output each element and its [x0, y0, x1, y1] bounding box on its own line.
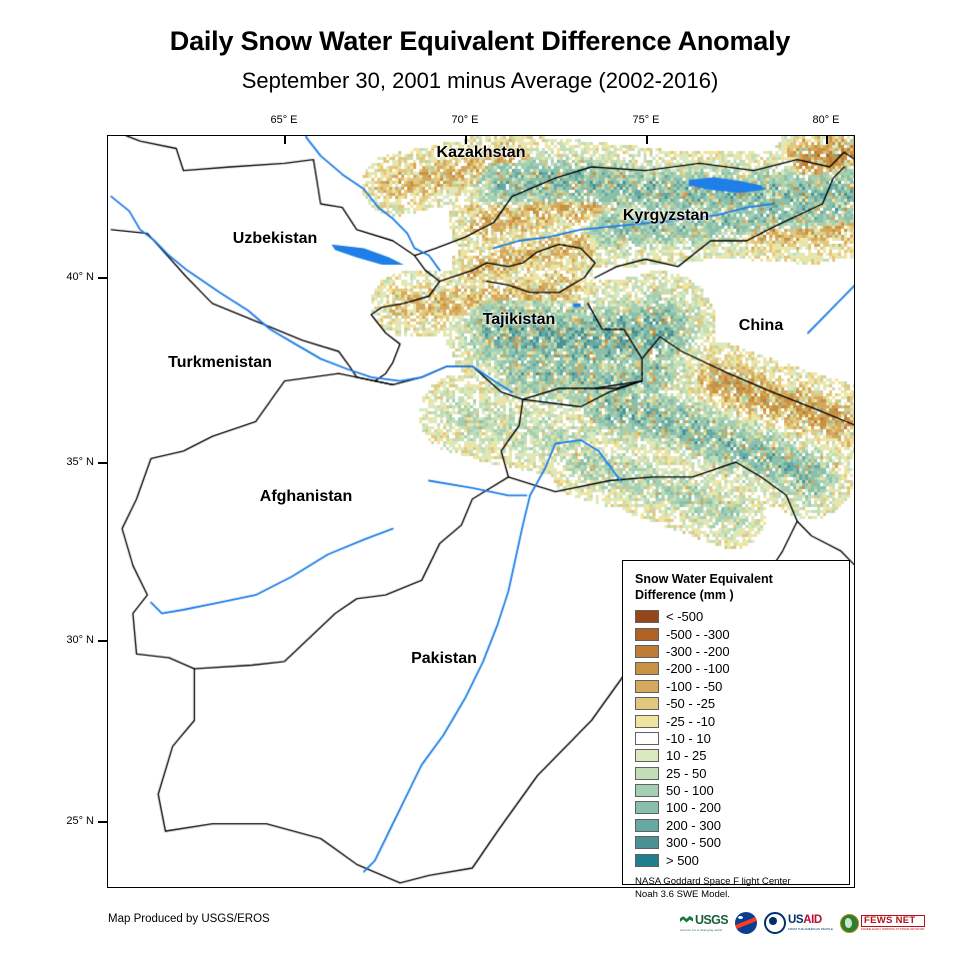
legend-row: -500 - -300: [635, 625, 841, 642]
legend-row: -100 - -50: [635, 678, 841, 695]
fews-tagline: FAMINE EARLY WARNING SYSTEMS NETWORK: [861, 928, 925, 931]
legend-label: -200 - -100: [666, 662, 730, 675]
legend-label: 10 - 25: [666, 749, 706, 762]
legend-row: -300 - -200: [635, 643, 841, 660]
legend-swatch: [635, 854, 659, 867]
legend-swatch: [635, 645, 659, 658]
legend-swatch: [635, 732, 659, 745]
lat-tick-label: 30° N: [50, 634, 94, 646]
lat-tick-label: 25° N: [50, 815, 94, 827]
usaid-logo: USAID FROM THE AMERICAN PEOPLE: [764, 912, 833, 934]
legend-title-line2: Difference (mm ): [635, 587, 841, 603]
lat-tick-mark: [98, 821, 107, 823]
legend-swatch: [635, 784, 659, 797]
legend-source-note: NASA Goddard Space F light Center Noah 3…: [635, 875, 841, 901]
usaid-wordmark-aid: AID: [803, 914, 822, 926]
lon-tick-label: 65° E: [270, 114, 297, 126]
legend-note-line1: NASA Goddard Space F light Center: [635, 875, 841, 888]
legend-label: -50 - -25: [666, 697, 715, 710]
legend-row: 100 - 200: [635, 799, 841, 816]
legend-title: Snow Water Equivalent Difference (mm ): [635, 571, 841, 603]
lon-tick-label: 80° E: [812, 114, 839, 126]
lon-tick-label: 70° E: [451, 114, 478, 126]
legend-row: 10 - 25: [635, 747, 841, 764]
fews-wordmark: FEWS NET: [861, 915, 925, 927]
legend-row: -200 - -100: [635, 660, 841, 677]
lat-tick-mark: [98, 277, 107, 279]
page-subtitle: September 30, 2001 minus Average (2002-2…: [0, 68, 960, 94]
fews-net-logo: FEWS NET FAMINE EARLY WARNING SYSTEMS NE…: [840, 912, 925, 934]
legend-label: < -500: [666, 610, 703, 623]
usgs-tagline: science for a changing world: [680, 928, 722, 932]
legend-row: -10 - 10: [635, 730, 841, 747]
legend-label: 300 - 500: [666, 836, 721, 849]
legend-label: -10 - 10: [666, 732, 711, 745]
legend-swatch: [635, 628, 659, 641]
map-credit: Map Produced by USGS/EROS: [108, 913, 270, 925]
legend-label: 50 - 100: [666, 784, 714, 797]
lon-tick-label: 75° E: [632, 114, 659, 126]
legend-swatch: [635, 680, 659, 693]
usaid-wordmark-us: US: [788, 914, 803, 926]
page-title: Daily Snow Water Equivalent Difference A…: [0, 26, 960, 57]
legend-row: 25 - 50: [635, 765, 841, 782]
lon-tick-mark: [284, 135, 286, 144]
legend-swatch: [635, 610, 659, 623]
lat-tick-mark: [98, 640, 107, 642]
usgs-wordmark: USGS: [695, 914, 728, 927]
legend-swatch: [635, 697, 659, 710]
usgs-logo: USGS science for a changing world: [680, 912, 728, 934]
legend-label: -300 - -200: [666, 645, 730, 658]
legend-label: 200 - 300: [666, 819, 721, 832]
usgs-wave-icon: [680, 915, 693, 926]
legend-row: > 500: [635, 851, 841, 868]
legend-swatch: [635, 836, 659, 849]
legend-label: -25 - -10: [666, 715, 715, 728]
legend-label: -100 - -50: [666, 680, 722, 693]
legend-label: -500 - -300: [666, 628, 730, 641]
map-page: Daily Snow Water Equivalent Difference A…: [0, 0, 960, 960]
legend-row: -50 - -25: [635, 695, 841, 712]
nasa-logo: [735, 912, 757, 934]
legend-label: 25 - 50: [666, 767, 706, 780]
nasa-stars-icon: [738, 916, 743, 919]
agency-logos: USGS science for a changing world USAID …: [680, 908, 925, 938]
legend-row: -25 - -10: [635, 712, 841, 729]
legend-row: < -500: [635, 608, 841, 625]
legend-swatch: [635, 767, 659, 780]
legend-swatch: [635, 819, 659, 832]
lat-tick-label: 40° N: [50, 271, 94, 283]
legend-title-line1: Snow Water Equivalent: [635, 571, 841, 587]
lat-tick-mark: [98, 462, 107, 464]
fews-globe-icon: [840, 914, 859, 933]
legend-row: 200 - 300: [635, 817, 841, 834]
usaid-tagline: FROM THE AMERICAN PEOPLE: [788, 928, 833, 931]
legend-class-list: < -500-500 - -300-300 - -200-200 - -100-…: [635, 608, 841, 869]
lon-tick-mark: [465, 135, 467, 144]
legend-note-line2: Noah 3.6 SWE Model.: [635, 888, 841, 901]
legend-row: 300 - 500: [635, 834, 841, 851]
lon-tick-mark: [826, 135, 828, 144]
usaid-seal-icon: [764, 912, 786, 934]
legend-panel: Snow Water Equivalent Difference (mm ) <…: [622, 560, 850, 885]
lon-tick-mark: [646, 135, 648, 144]
legend-row: 50 - 100: [635, 782, 841, 799]
legend-swatch: [635, 801, 659, 814]
legend-swatch: [635, 715, 659, 728]
legend-label: 100 - 200: [666, 801, 721, 814]
legend-label: > 500: [666, 854, 699, 867]
legend-swatch: [635, 662, 659, 675]
legend-swatch: [635, 749, 659, 762]
lat-tick-label: 35° N: [50, 456, 94, 468]
